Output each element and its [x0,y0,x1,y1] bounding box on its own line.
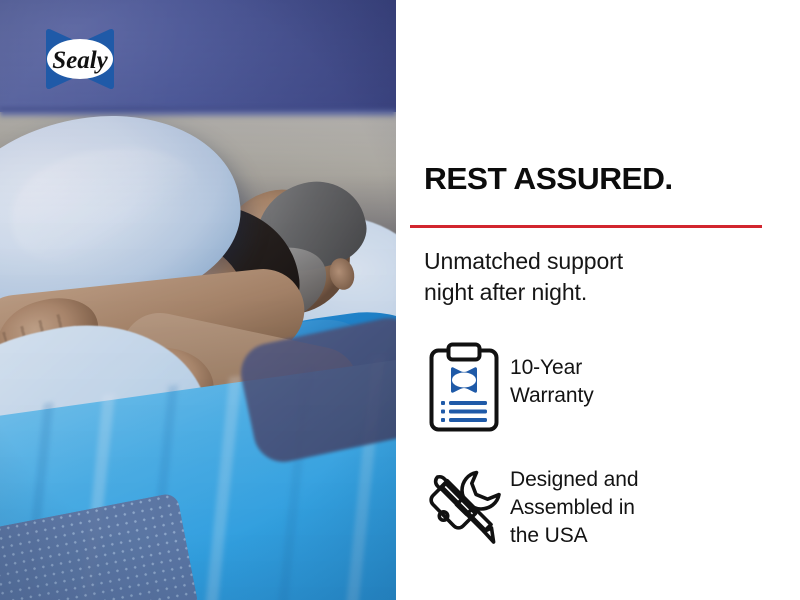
headboard-edge [0,108,396,118]
sealy-wordmark: Sealy [52,47,108,74]
clipboard-body [432,351,497,430]
clipboard-text-lines [441,401,487,422]
ruler-shape [431,483,475,528]
feature-item-warranty: 10-Year Warranty [418,336,778,440]
warranty-line-2: Warranty [510,384,594,407]
hero-photo-panel: Sealy [0,0,396,600]
subheadline-line-1: Unmatched support [424,248,623,274]
usa-line-2: Assembled in [510,496,635,519]
warranty-line-1: 10-Year [510,356,582,379]
usa-line-1: Designed and [510,468,638,491]
red-divider-rule [410,225,762,228]
feature-label-warranty: 10-Year Warranty [510,336,778,410]
clipboard-bowtie-mark [451,367,477,392]
pencil-wrench-icon [418,458,510,562]
subheadline: Unmatched support night after night. [424,246,623,307]
pencil-eraser [436,477,448,489]
clipboard-warranty-icon [418,336,510,440]
page-title: REST ASSURED. [424,163,673,194]
sealy-advertisement: Sealy REST ASSURED. Unmatched support ni… [0,0,800,600]
sealy-bowtie-logo: Sealy [42,27,118,91]
feature-item-made-in-usa: Designed and Assembled in the USA [418,458,778,562]
content-panel: REST ASSURED. Unmatched support night af… [396,0,800,600]
usa-line-3: the USA [510,524,588,547]
feature-label-made-in-usa: Designed and Assembled in the USA [510,458,778,550]
feature-list: 10-Year Warranty [418,336,778,580]
subheadline-line-2: night after night. [424,279,587,305]
clipboard-clip [449,345,480,360]
